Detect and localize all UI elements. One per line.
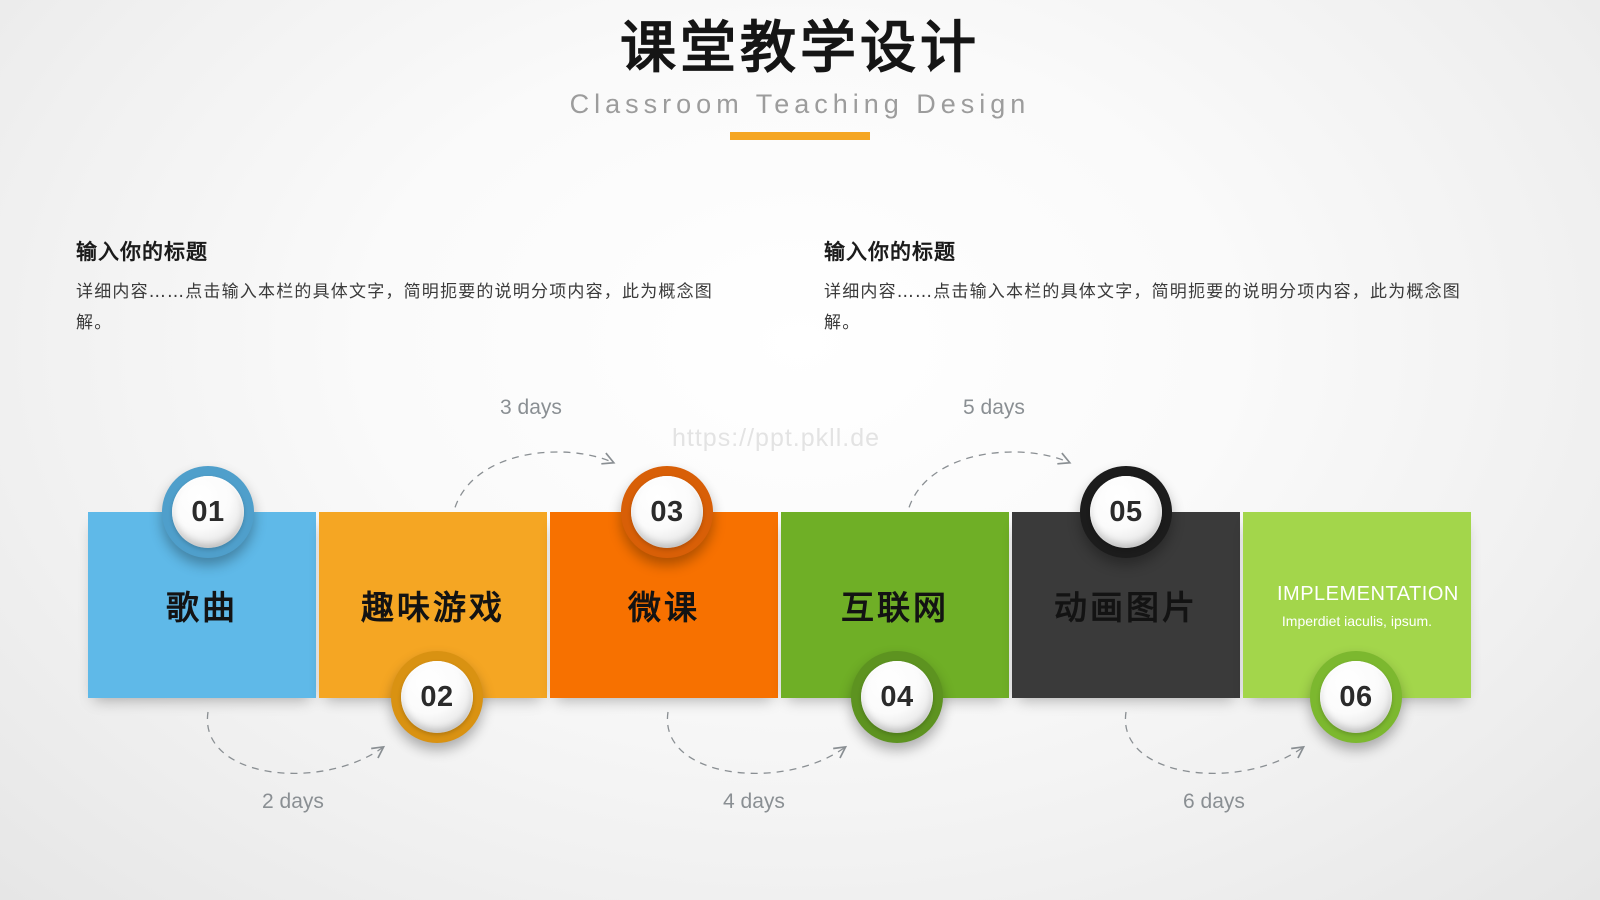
connector-path-6days [1125,712,1302,773]
connector-path-4days [667,712,844,773]
connector-label-3days: 3 days [500,396,562,420]
description-block-right: 输入你的标题 详细内容……点击输入本栏的具体文字，简明扼要的说明分项内容，此为概… [824,236,1484,340]
badge-inner: 03 [631,476,703,548]
connector-label-4days: 4 days [723,790,785,814]
description-block-left: 输入你的标题 详细内容……点击输入本栏的具体文字，简明扼要的说明分项内容，此为概… [76,236,736,340]
segment-subtext: Imperdiet iaculis, ipsum. [1282,613,1432,629]
segment-label: 趣味游戏 [361,581,505,629]
page-subtitle: Classroom Teaching Design [0,89,1600,120]
badge-inner: 04 [861,661,933,733]
step-badge-06[interactable]: 06 [1310,651,1402,743]
connector-label-5days: 5 days [963,396,1025,420]
segment-label: 微课 [628,581,700,629]
watermark: https://ppt.pkll.de [672,424,880,453]
connector-label-2days: 2 days [262,790,324,814]
badge-inner: 06 [1320,661,1392,733]
step-badge-05[interactable]: 05 [1080,466,1172,558]
step-badge-01[interactable]: 01 [162,466,254,558]
description-body: 详细内容……点击输入本栏的具体文字，简明扼要的说明分项内容，此为概念图解。 [76,277,736,340]
connector-label-6days: 6 days [1183,790,1245,814]
timeline-band: 歌曲 趣味游戏 微课 互联网 动画图片 IMPLEMENTATION Imper… [88,512,1471,698]
connector-path-5days [906,452,1068,520]
step-badge-04[interactable]: 04 [851,651,943,743]
connector-path-2days [207,712,382,773]
segment-label: IMPLEMENTATION [1277,582,1437,607]
badge-inner: 01 [172,476,244,548]
description-title: 输入你的标题 [824,236,1484,266]
page-title: 课堂教学设计 [0,18,1600,81]
badge-number: 06 [1339,681,1372,714]
badge-inner: 02 [401,661,473,733]
connector-path-3days [452,452,612,520]
badge-number: 03 [650,496,683,529]
badge-number: 01 [191,496,224,529]
badge-number: 04 [880,681,913,714]
segment-label: 歌曲 [166,581,238,629]
page-header: 课堂教学设计 Classroom Teaching Design [0,18,1600,140]
step-badge-03[interactable]: 03 [621,466,713,558]
step-badge-02[interactable]: 02 [391,651,483,743]
badge-inner: 05 [1090,476,1162,548]
badge-number: 02 [420,681,453,714]
segment-label: 动画图片 [1054,581,1198,629]
description-body: 详细内容……点击输入本栏的具体文字，简明扼要的说明分项内容，此为概念图解。 [824,277,1484,340]
description-title: 输入你的标题 [76,236,736,266]
segment-label: 互联网 [841,581,949,629]
title-underline [730,132,870,140]
badge-number: 05 [1109,496,1142,529]
